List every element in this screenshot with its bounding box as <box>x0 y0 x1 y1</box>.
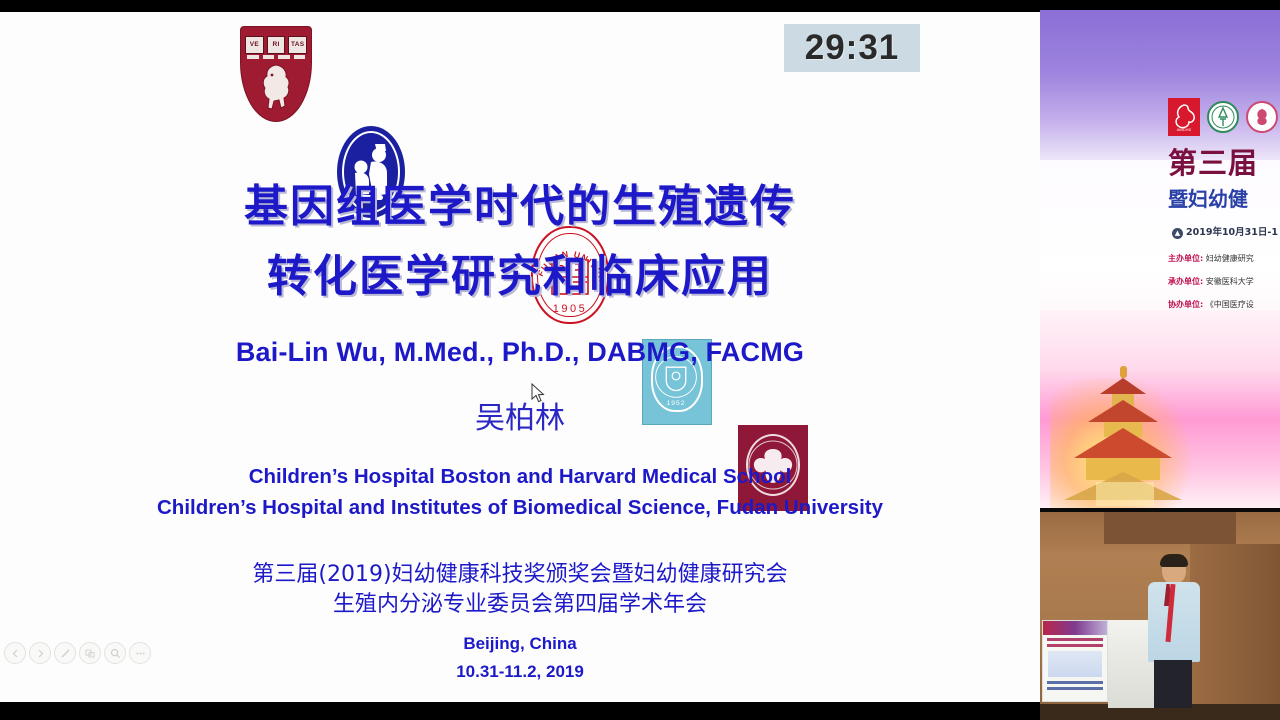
more-options-button[interactable] <box>129 642 151 664</box>
veritas-block-tas: TAS <box>288 36 307 54</box>
conference-signboard <box>1042 620 1108 702</box>
svg-text:AMCHS: AMCHS <box>1177 127 1192 132</box>
signboard-image <box>1048 651 1102 677</box>
presentation-timer: 29:31 <box>784 24 920 72</box>
signboard-footer-line <box>1047 681 1103 684</box>
conference-name-line-1: 第三届(2019)妇幼健康科技奖颁奖会暨妇幼健康研究会 <box>0 556 1040 588</box>
pen-icon <box>60 648 71 659</box>
poster-logo-green <box>1207 98 1239 136</box>
conference-poster-feed[interactable]: AMCHS 第三届 暨妇幼健 ▲2019年10月31日-1 主办单位: 妇幼健康… <box>1040 10 1280 508</box>
presenter-hair <box>1160 554 1188 567</box>
backdrop-panel-top <box>1104 512 1236 544</box>
signboard-footer-line <box>1047 687 1103 690</box>
affiliation-line-2: Children’s Hospital and Institutes of Bi… <box>0 496 1040 520</box>
poster-organizer-2: 承办单位: 安徽医科大学 <box>1168 276 1254 287</box>
presentation-toolbar[interactable] <box>4 642 151 664</box>
signboard-text-line <box>1047 644 1103 647</box>
veritas-block-ve: VE <box>245 36 264 54</box>
event-location: Beijing, China <box>0 634 1040 654</box>
previous-slide-button[interactable] <box>4 642 26 664</box>
backdrop-panel-right <box>1190 544 1280 708</box>
conference-name-line-2: 生殖内分泌专业委员会第四届学术年会 <box>0 586 1040 618</box>
magnifier-icon <box>110 648 121 659</box>
poster-organizer-1: 主办单位: 妇幼健康研究 <box>1168 253 1254 264</box>
calendar-icon: ▲ <box>1172 228 1183 239</box>
shield-dots <box>247 55 305 60</box>
zoom-button[interactable] <box>104 642 126 664</box>
presentation-slide: VE RI TAS <box>0 12 1040 690</box>
poster-organizer-3: 协办单位: 《中国医疗设 <box>1168 299 1254 310</box>
next-slide-button[interactable] <box>29 642 51 664</box>
author-name-english: Bai-Lin Wu, M.Med., Ph.D., DABMG, FACMG <box>0 337 1040 368</box>
presenter <box>1144 556 1202 708</box>
grid-icon <box>85 648 96 659</box>
presenter-trousers <box>1154 660 1192 708</box>
slide-share-region[interactable]: VE RI TAS <box>0 12 1040 702</box>
slide-title-line-1: 基因组医学时代的生殖遗传 <box>0 170 1040 234</box>
temple-of-heaven-illustration <box>1060 360 1190 508</box>
chevron-right-icon <box>36 649 45 658</box>
right-video-column: AMCHS 第三届 暨妇幼健 ▲2019年10月31日-1 主办单位: 妇幼健康… <box>1040 0 1280 720</box>
slide-title-line-2: 转化医学研究和临床应用 <box>0 240 1040 304</box>
veritas-block-ri: RI <box>267 36 286 54</box>
poster-title-main: 第三届 <box>1168 140 1258 182</box>
mouse-cursor <box>531 383 545 403</box>
signboard-text-line <box>1047 638 1103 641</box>
lion-icon <box>254 62 298 112</box>
event-dates: 10.31-11.2, 2019 <box>0 662 1040 682</box>
slide-overview-button[interactable] <box>79 642 101 664</box>
screen-recording-viewport: VE RI TAS <box>0 0 1280 720</box>
ellipsis-icon <box>135 648 146 659</box>
signboard-header <box>1043 621 1107 635</box>
harvard-medical-school-logo: VE RI TAS <box>240 26 312 122</box>
author-name-chinese: 吴柏林 <box>0 393 1040 437</box>
pen-tool-button[interactable] <box>54 642 76 664</box>
poster-logo-red: AMCHS <box>1168 98 1200 136</box>
poster-date-line: ▲2019年10月31日-1 <box>1172 224 1278 239</box>
poster-logo-pink <box>1246 98 1278 136</box>
poster-title-sub: 暨妇幼健 <box>1168 183 1248 212</box>
veritas-banner: VE RI TAS <box>245 36 307 54</box>
poster-logo-row: AMCHS <box>1168 98 1278 136</box>
svg-text:1905: 1905 <box>553 303 587 315</box>
affiliation-line-1: Children’s Hospital Boston and Harvard M… <box>0 465 1040 489</box>
chevron-left-icon <box>11 649 20 658</box>
speaker-camera-feed[interactable] <box>1040 508 1280 720</box>
